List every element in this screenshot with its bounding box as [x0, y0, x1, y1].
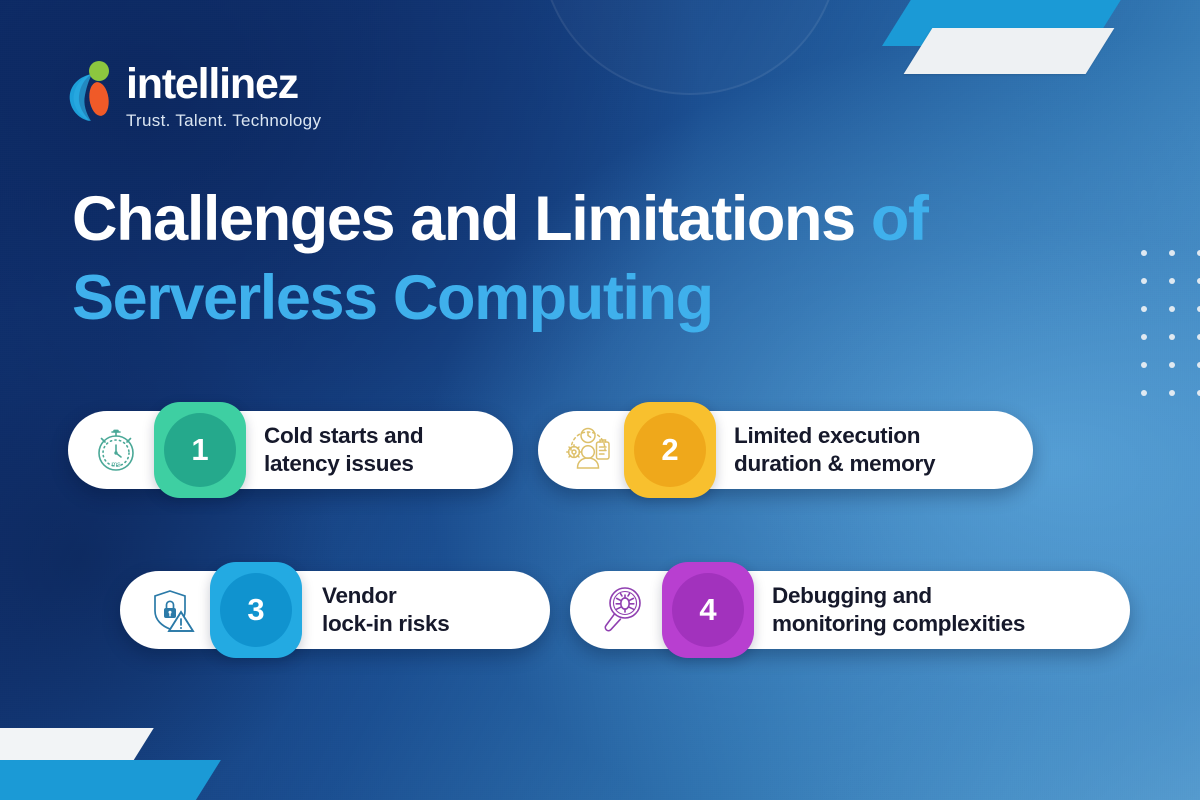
- title-line-1-accent: of: [871, 184, 928, 254]
- shield-lock-warning-icon: [146, 584, 198, 636]
- card-4-line-2: monitoring complexities: [772, 611, 1025, 636]
- brand-name: intellinez: [126, 60, 298, 108]
- challenge-card-4-label: Debugging and monitoring complexities: [772, 582, 1025, 639]
- brand-logo: intellinez Trust. Talent. Technology: [66, 58, 321, 131]
- challenge-card-3[interactable]: 3 Vendor lock-in risks: [120, 571, 550, 649]
- top-right-white-parallelogram: [904, 28, 1115, 74]
- step-number-1: 1: [164, 413, 236, 487]
- poster-canvas: intellinez Trust. Talent. Technology Cha…: [0, 0, 1200, 800]
- step-badge-2: 2: [624, 402, 716, 498]
- stopwatch-ms-icon: ms: [90, 424, 142, 476]
- card-2-line-2: duration & memory: [734, 451, 935, 476]
- title-line-2: Serverless Computing: [72, 263, 713, 333]
- resource-management-icon: [562, 424, 614, 476]
- title-line-1: Challenges and Limitations: [72, 184, 855, 254]
- card-3-line-1: Vendor: [322, 583, 396, 608]
- decorative-dot: [1141, 362, 1147, 368]
- step-number-3: 3: [220, 573, 292, 647]
- challenge-card-4[interactable]: 4 Debugging and monitoring complexities: [570, 571, 1130, 649]
- decorative-dot: [1169, 250, 1175, 256]
- step-number-4: 4: [672, 573, 744, 647]
- step-number-2: 2: [634, 413, 706, 487]
- decorative-dot-grid: [1141, 250, 1200, 398]
- bottom-left-blue-parallelogram: [0, 760, 221, 800]
- decorative-dot: [1169, 334, 1175, 340]
- brand-tagline: Trust. Talent. Technology: [126, 111, 321, 131]
- card-1-line-1: Cold starts and: [264, 423, 423, 448]
- decorative-dot: [1141, 390, 1147, 396]
- step-badge-1: 1: [154, 402, 246, 498]
- decorative-dot: [1169, 306, 1175, 312]
- challenge-card-2[interactable]: 2 Limited execution duration & memory: [538, 411, 1033, 489]
- challenge-card-3-label: Vendor lock-in risks: [322, 582, 449, 639]
- challenge-card-2-label: Limited execution duration & memory: [734, 422, 935, 479]
- card-3-line-2: lock-in risks: [322, 611, 449, 636]
- decorative-dot: [1169, 390, 1175, 396]
- decorative-dot: [1169, 362, 1175, 368]
- card-1-line-2: latency issues: [264, 451, 414, 476]
- magnifier-bug-icon: [596, 584, 648, 636]
- challenge-card-1[interactable]: ms 1 Cold starts and latency issues: [68, 411, 513, 489]
- page-title: Challenges and Limitations of Serverless…: [72, 180, 1142, 339]
- step-badge-3: 3: [210, 562, 302, 658]
- step-badge-4: 4: [662, 562, 754, 658]
- card-2-line-1: Limited execution: [734, 423, 920, 448]
- svg-text:ms: ms: [111, 462, 121, 469]
- intellinez-leaf-logo-icon: [66, 58, 122, 124]
- decorative-dot: [1169, 278, 1175, 284]
- card-4-line-1: Debugging and: [772, 583, 932, 608]
- challenge-card-1-label: Cold starts and latency issues: [264, 422, 423, 479]
